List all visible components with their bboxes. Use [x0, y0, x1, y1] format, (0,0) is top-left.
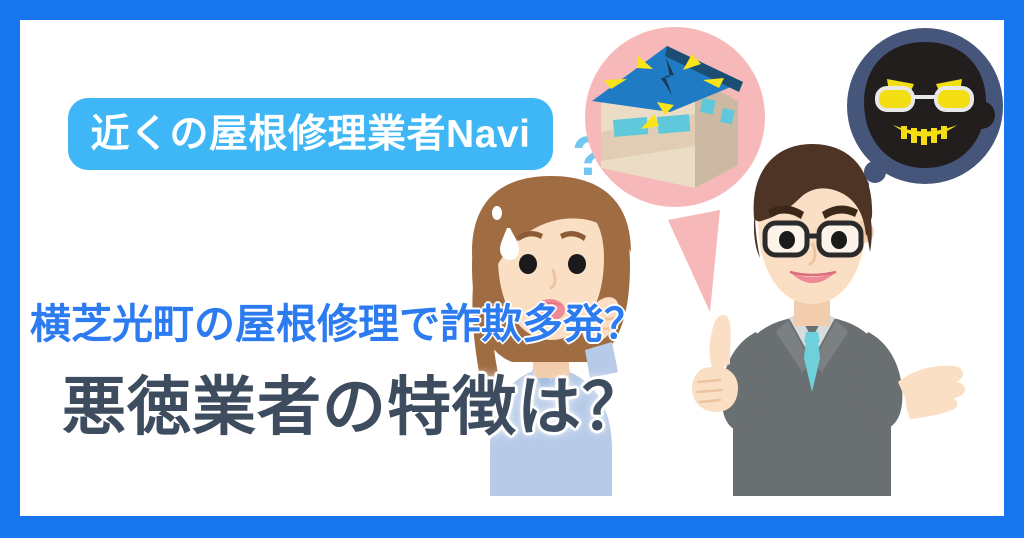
subtitle-text: 横芝光町の屋根修理で詐欺多発？: [30, 304, 670, 345]
page-title: 悪徳業者の特徴は？: [62, 375, 702, 439]
poster-canvas: 近くの屋根修理業者Navi ? 横芝光町の屋根修理で詐欺多発？ 悪徳業者の特徴は…: [20, 20, 1004, 516]
poster-frame: 近くの屋根修理業者Navi ? 横芝光町の屋根修理で詐欺多発？ 悪徳業者の特徴は…: [0, 0, 1024, 538]
